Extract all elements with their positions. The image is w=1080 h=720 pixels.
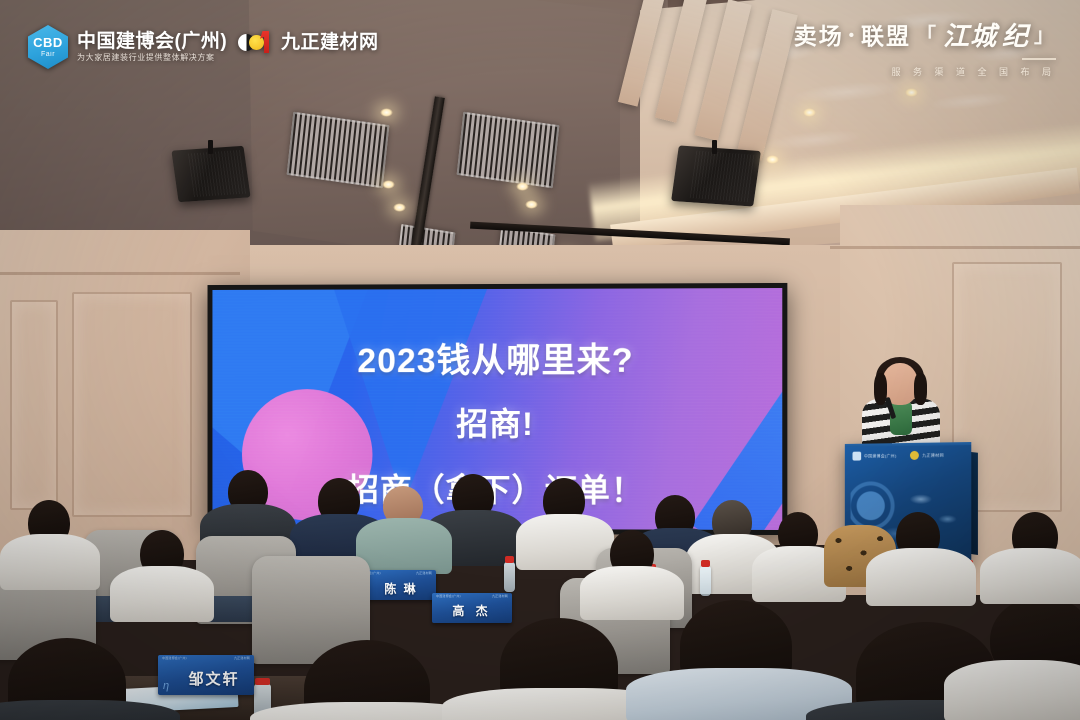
name-card-header: 中国建博会(广州) 九正建材网 bbox=[162, 657, 250, 661]
podium-logo-cbd: 中国建博会(广州) bbox=[852, 451, 896, 460]
wall-panel bbox=[10, 300, 58, 510]
bottle-cap bbox=[255, 678, 270, 685]
hvac-vent bbox=[457, 112, 560, 189]
speaker-mount bbox=[208, 140, 213, 154]
downlight-icon bbox=[525, 200, 538, 209]
audience-shoulders bbox=[866, 548, 976, 606]
brand-divider bbox=[1022, 58, 1056, 60]
brand-cbd-subtitle: 为大家居建装行业提供整体解决方案 bbox=[77, 54, 227, 62]
podium-top-edge bbox=[845, 442, 971, 447]
slide-subline: 招商! bbox=[212, 399, 782, 445]
name-card-mark-icon: ƞ bbox=[163, 680, 169, 692]
brand-cbd-title: 中国建博会(广州) bbox=[77, 32, 227, 51]
led-screen: 2023钱从哪里来? 招商! 招商（拿下）订单！ bbox=[208, 283, 788, 535]
name-card-name: 邹文轩 bbox=[188, 668, 239, 689]
downlight-icon bbox=[803, 108, 816, 117]
cbd-badge-sub: Fair bbox=[41, 51, 55, 58]
audience-shoulders bbox=[356, 518, 452, 574]
led-screen-content: 2023钱从哪里来? 招商! 招商（拿下）订单！ bbox=[212, 288, 782, 530]
downlight-icon bbox=[393, 203, 406, 212]
brand-jiuzheng-title: 九正建材网 bbox=[281, 33, 379, 52]
cbd-badge-text: CBD bbox=[33, 36, 63, 49]
brand-script-main: 江城 bbox=[943, 22, 997, 51]
audience-shoulders bbox=[980, 548, 1080, 604]
name-card: 中国建博会(广州) 九正建材网 高 杰 bbox=[432, 593, 512, 623]
name-card-header: 中国建博会(广州) 九正建材网 bbox=[436, 595, 508, 599]
downlight-icon bbox=[382, 180, 395, 189]
presenter bbox=[852, 363, 948, 455]
audience-shoulders bbox=[110, 566, 214, 622]
podium-logo-row: 中国建博会(广州) 九正建材网 bbox=[852, 451, 943, 461]
brand-script-small: 纪 bbox=[1002, 22, 1029, 51]
bottle-cap bbox=[701, 560, 710, 567]
audience-shoulders bbox=[944, 660, 1080, 720]
slide-thirdline: 招商（拿下）订单！ bbox=[212, 465, 782, 512]
speaker-mount bbox=[712, 140, 717, 154]
downlight-icon bbox=[905, 88, 918, 97]
brand-cbd: CBD Fair 中国建博会(广州) 为大家居建装行业提供整体解决方案 bbox=[28, 25, 227, 69]
downlight-icon bbox=[380, 108, 393, 117]
brand-word-1: 卖场 bbox=[794, 24, 844, 49]
water-bottle bbox=[700, 566, 711, 596]
brand-word-2: 联盟 bbox=[861, 24, 911, 49]
bottle-cap bbox=[505, 556, 514, 563]
cbd-hex-icon: CBD Fair bbox=[28, 25, 68, 69]
wall-molding bbox=[0, 272, 240, 275]
conference-photo-stage: 2023钱从哪里来? 招商! 招商（拿下）订单！ 中国建博会(广州) 九正建材网 bbox=[0, 0, 1080, 720]
jiuzheng-logo-icon bbox=[910, 451, 919, 460]
podium-logo-jiuzheng: 九正建材网 bbox=[910, 451, 943, 460]
brand-jiuzheng: 九正建材网 bbox=[238, 31, 379, 53]
name-card-name: 高 杰 bbox=[452, 602, 491, 619]
jiuzheng-logo-icon bbox=[238, 31, 274, 53]
audience-shoulders bbox=[580, 566, 684, 620]
water-bottle bbox=[504, 562, 515, 592]
name-card: 中国建博会(广州) 九正建材网 ƞ 邹文轩 bbox=[158, 655, 254, 695]
slide-headline: 2023钱从哪里来? bbox=[212, 332, 782, 382]
bracket-open: 「 bbox=[916, 25, 938, 47]
wall-panel bbox=[72, 292, 192, 517]
bracket-close: 」 bbox=[1034, 25, 1056, 47]
downlight-icon bbox=[516, 182, 529, 191]
brand-separator-icon: • bbox=[849, 28, 856, 45]
brand-event-subtitle: 服 务 渠 道 全 国 布 局 bbox=[794, 65, 1056, 78]
presenter-hair-side bbox=[914, 373, 927, 405]
ceiling-speaker-icon bbox=[171, 146, 250, 203]
brand-cbd-text: 中国建博会(广州) 为大家居建装行业提供整体解决方案 bbox=[77, 32, 227, 62]
brand-event-title: 卖场 • 联盟 「 江城 纪 」 bbox=[794, 22, 1056, 51]
audience-shoulders bbox=[0, 534, 100, 590]
speaker-grille bbox=[690, 151, 757, 203]
cbd-hex-icon bbox=[852, 452, 861, 461]
brand-event: 卖场 • 联盟 「 江城 纪 」 服 务 渠 道 全 国 布 局 bbox=[794, 22, 1056, 78]
name-card-name: 陈 琳 bbox=[384, 580, 417, 597]
ceiling-speaker-icon bbox=[671, 145, 761, 206]
downlight-icon bbox=[766, 155, 779, 164]
wall-molding bbox=[830, 246, 1080, 249]
speaker-grille bbox=[188, 150, 246, 197]
hvac-vent bbox=[287, 112, 390, 189]
